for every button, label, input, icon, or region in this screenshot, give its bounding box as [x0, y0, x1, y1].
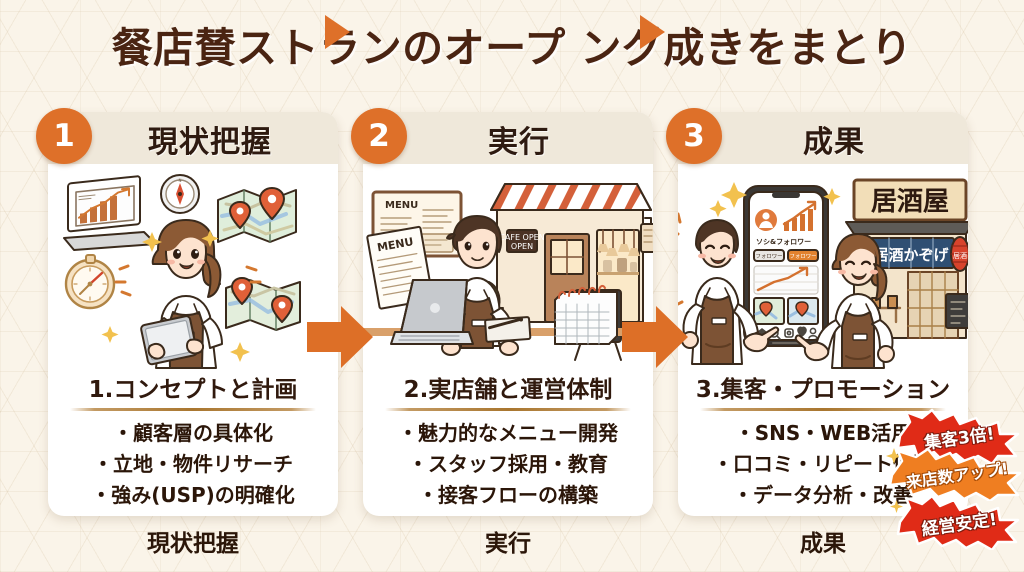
- bullet-item: ・スタッフ採用・教育: [363, 449, 653, 480]
- card-title: 2.実店舗と運営体制: [363, 370, 653, 404]
- step-flow-arrow-icon: [622, 306, 688, 368]
- bullet-item: ・接客フローの構築: [363, 480, 653, 511]
- lantern-right-text: 居酒: [953, 252, 967, 260]
- izakaya-sign-text: 居酒屋: [871, 187, 949, 217]
- phone-button-right: フォロワー: [790, 253, 817, 260]
- step-card-2[interactable]: 実行: [363, 112, 653, 516]
- phone-button-left: フォロワー: [756, 253, 783, 260]
- svg-text:N: N: [179, 178, 182, 183]
- illustration-research: N: [48, 164, 338, 369]
- footer-label-step-2: 実行: [363, 524, 653, 558]
- phone-stat-label: ソシ&フォロワー: [756, 238, 811, 246]
- step-number-badge-2: 2: [351, 108, 407, 164]
- card-surface: 現状把握: [48, 112, 338, 516]
- page-title: 餐店賛ストランのオープ ング成きをまとり: [0, 19, 1024, 77]
- card-title: 1.コンセプトと計画: [48, 370, 338, 404]
- card-bullet-list: ・魅力的なメニュー開発 ・スタッフ採用・教育 ・接客フローの構築: [363, 418, 653, 511]
- svg-text:OPEN: OPEN: [511, 242, 533, 251]
- step-number-badge-1: 1: [36, 108, 92, 164]
- cafe-sign-line1: CAFE OPEN: [499, 233, 544, 242]
- card-title: 3.集客・プロモーション: [678, 370, 968, 404]
- badge-stable-management: 経営安定!: [896, 494, 1022, 550]
- step-number-badge-3: 3: [666, 108, 722, 164]
- footer-label-step-1: 現状把握: [48, 524, 338, 558]
- step-card-1[interactable]: 現状把握: [48, 112, 338, 516]
- header-triangle-arrow-icon: [640, 15, 665, 49]
- card-divider: [70, 408, 316, 411]
- card-surface: 実行: [363, 112, 653, 516]
- card-bullet-list: ・顧客層の具体化 ・立地・物件リサーチ ・強み(USP)の明確化: [48, 418, 338, 511]
- illustration-promotion: 居酒屋 居酒かぞげ: [678, 164, 968, 369]
- menu-board-label: MENU: [385, 200, 418, 211]
- header-triangle-arrow-icon: [325, 15, 350, 49]
- illustration-operations: CAFE OPEN OPEN: [363, 164, 653, 369]
- card-divider: [385, 408, 631, 411]
- bullet-item: ・立地・物件リサーチ: [48, 449, 338, 480]
- step-flow-arrow-icon: [307, 306, 373, 368]
- badge-visits-up: 来店数アップ!: [890, 447, 1024, 501]
- bullet-item: ・強み(USP)の明確化: [48, 480, 338, 511]
- bullet-item: ・魅力的なメニュー開発: [363, 418, 653, 449]
- bullet-item: ・顧客層の具体化: [48, 418, 338, 449]
